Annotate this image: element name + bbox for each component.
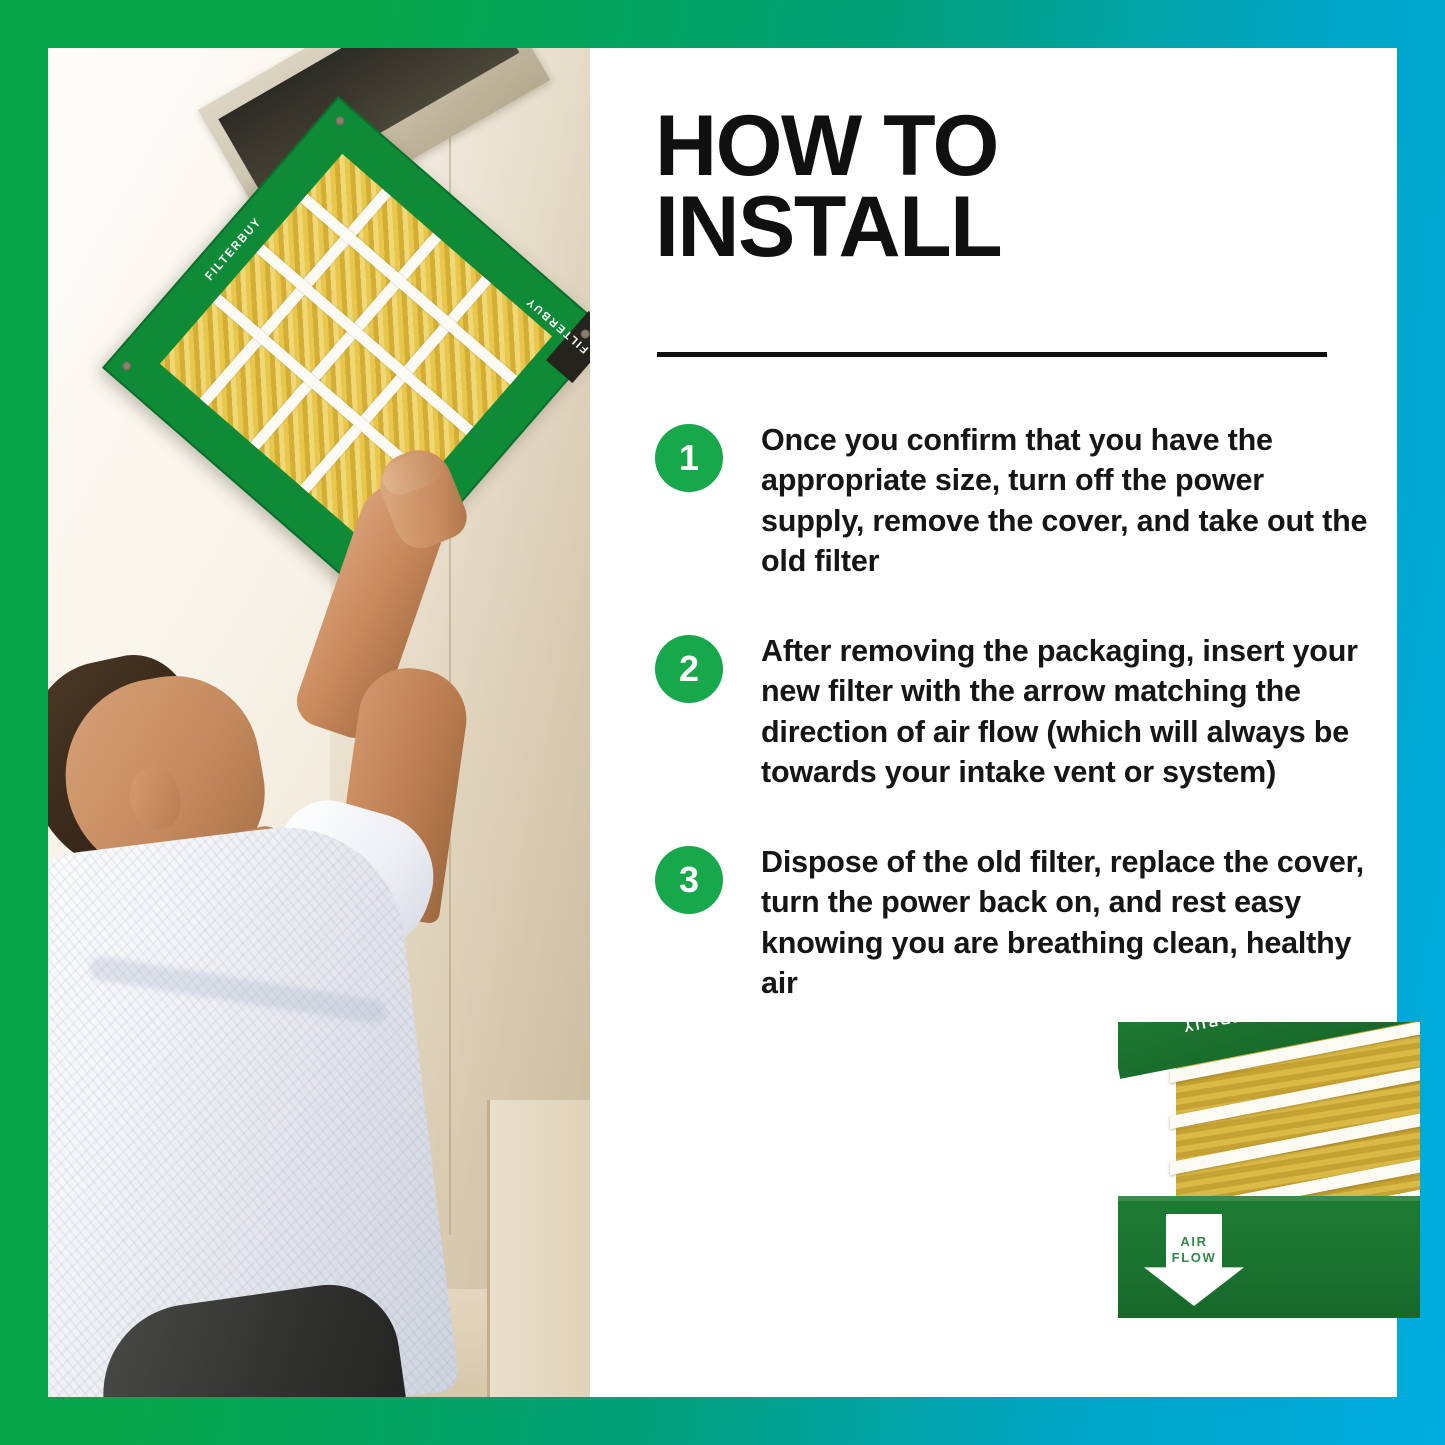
step-text-1: Once you confirm that you have the appro… [761, 420, 1373, 581]
title-line-2: INSTALL [655, 187, 1355, 268]
title-divider [657, 352, 1327, 357]
step-number-badge-2: 2 [655, 635, 723, 703]
product-frame-face: AIR FLOW [1118, 1196, 1420, 1318]
steps-list: 1 Once you confirm that you have the app… [655, 420, 1373, 1053]
air-flow-label: AIR FLOW [1144, 1234, 1244, 1266]
air-flow-line-1: AIR [1144, 1234, 1244, 1250]
product-brand-text: FILTERBUY [1180, 1022, 1280, 1036]
promo-banner: FILTERBUY FILTERBUY [0, 0, 1445, 1445]
step-number-badge-3: 3 [655, 846, 723, 914]
step-text-2: After removing the packaging, insert you… [761, 631, 1373, 792]
air-flow-arrow-badge: AIR FLOW [1144, 1214, 1244, 1306]
step-item-1: 1 Once you confirm that you have the app… [655, 420, 1373, 581]
title-line-1: HOW TO [655, 106, 1355, 187]
step-item-2: 2 After removing the packaging, insert y… [655, 631, 1373, 792]
page-title: HOW TO INSTALL [655, 106, 1355, 268]
step-text-3: Dispose of the old filter, replace the c… [761, 842, 1373, 1003]
door-frame [487, 1100, 590, 1397]
air-flow-line-2: FLOW [1144, 1250, 1244, 1266]
product-filter-image: FILTERBUY AIR FLOW [1118, 1022, 1420, 1352]
step-item-3: 3 Dispose of the old filter, replace the… [655, 842, 1373, 1003]
filter-screw [334, 114, 347, 127]
step-number-badge-1: 1 [655, 424, 723, 492]
product-frame-highlight [1118, 1196, 1420, 1201]
installation-photo: FILTERBUY FILTERBUY [48, 48, 590, 1397]
filter-screw [120, 360, 133, 373]
